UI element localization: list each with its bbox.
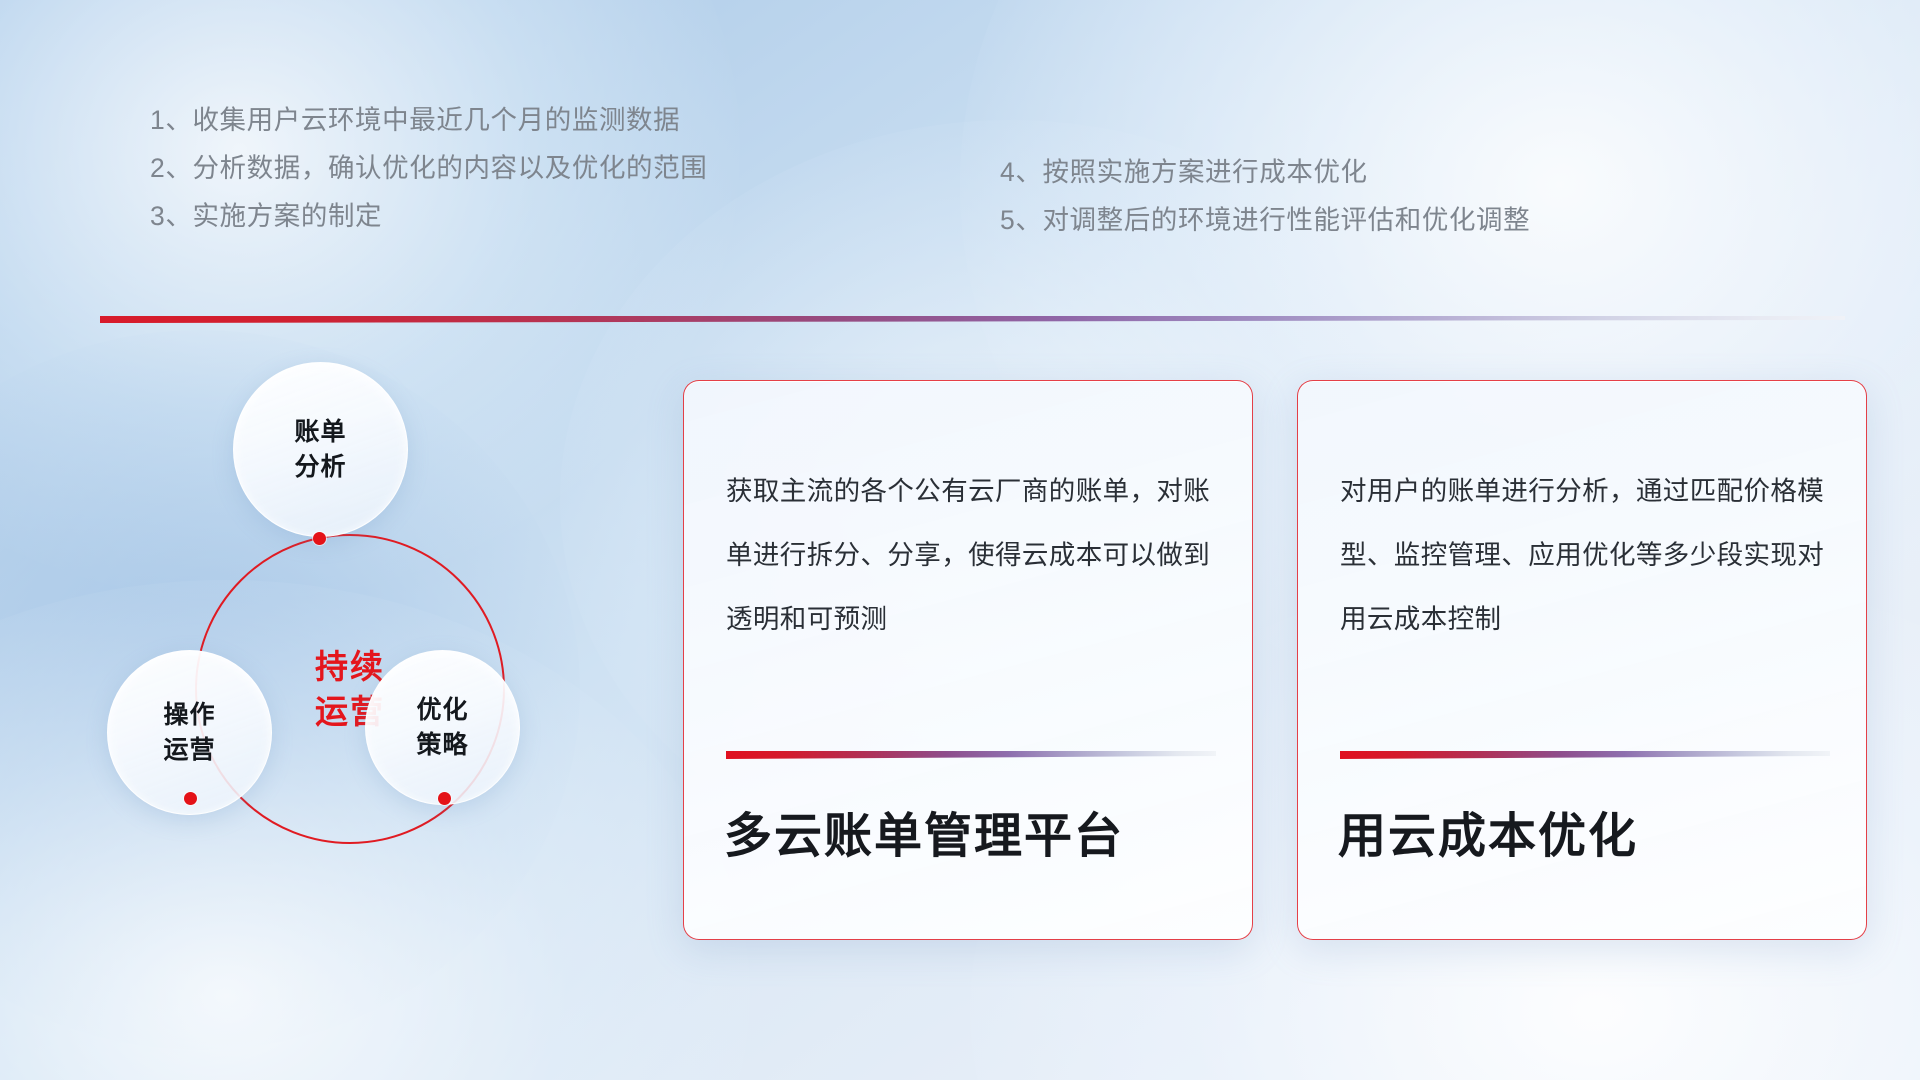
- node-operations-line1: 操作: [163, 698, 215, 733]
- card-cloud-cost-optimization[interactable]: 对用户的账单进行分析，通过匹配价格模型、监控管理、应用优化等多少段实现对用云成本…: [1297, 380, 1867, 940]
- continuous-operation-diagram: 持续 运营 账单 分析 操作 运营 优化 策略: [100, 350, 660, 950]
- steps-left-column: 1、收集用户云环境中最近几个月的监测数据 2、分析数据，确认优化的内容以及优化的…: [150, 96, 707, 240]
- card-multicloud-billing-platform[interactable]: 获取主流的各个公有云厂商的账单，对账单进行拆分、分享，使得云成本可以做到透明和可…: [683, 380, 1253, 940]
- header-gradient-divider: [100, 316, 1845, 323]
- node-bill-analysis-line1: 账单: [294, 415, 346, 450]
- node-operations[interactable]: 操作 运营: [107, 650, 272, 815]
- step-item-2: 2、分析数据，确认优化的内容以及优化的范围: [150, 144, 707, 192]
- card-1-body: 获取主流的各个公有云厂商的账单，对账单进行拆分、分享，使得云成本可以做到透明和可…: [726, 459, 1222, 651]
- step-item-1: 1、收集用户云环境中最近几个月的监测数据: [150, 96, 707, 144]
- step-item-5: 5、对调整后的环境进行性能评估和优化调整: [1000, 196, 1530, 244]
- node-optimization-strategy-line1: 优化: [416, 693, 468, 728]
- connector-dot-top: [313, 532, 326, 545]
- step-item-3: 3、实施方案的制定: [150, 192, 707, 240]
- card-1-title: 多云账单管理平台: [724, 796, 1124, 866]
- steps-right-column: 4、按照实施方案进行成本优化 5、对调整后的环境进行性能评估和优化调整: [1000, 148, 1530, 244]
- card-2-body: 对用户的账单进行分析，通过匹配价格模型、监控管理、应用优化等多少段实现对用云成本…: [1340, 459, 1836, 651]
- step-item-4: 4、按照实施方案进行成本优化: [1000, 148, 1530, 196]
- card-2-title: 用云成本优化: [1338, 796, 1638, 866]
- center-label-line1: 持续: [315, 644, 385, 689]
- node-optimization-strategy-line2: 策略: [416, 728, 468, 763]
- node-operations-line2: 运营: [163, 733, 215, 768]
- node-optimization-strategy[interactable]: 优化 策略: [365, 650, 520, 805]
- connector-dot-left: [184, 792, 197, 805]
- slide-canvas: 1、收集用户云环境中最近几个月的监测数据 2、分析数据，确认优化的内容以及优化的…: [0, 0, 1920, 1080]
- connector-dot-right: [438, 792, 451, 805]
- node-bill-analysis[interactable]: 账单 分析: [233, 362, 408, 537]
- node-bill-analysis-line2: 分析: [294, 450, 346, 485]
- card-2-divider: [1340, 751, 1830, 759]
- card-1-divider: [726, 751, 1216, 759]
